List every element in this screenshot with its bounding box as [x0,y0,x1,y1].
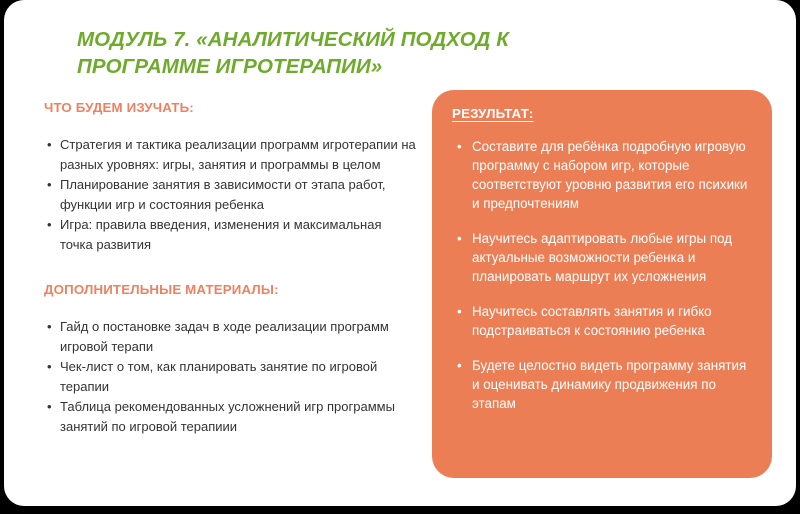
list-item: Чек-лист о том, как планировать занятие … [44,357,416,396]
left-content-column: ЧТО БУДЕМ ИЗУЧАТЬ: Стратегия и тактика р… [44,100,416,437]
list-item: Планирование занятия в зависимости от эт… [44,175,416,214]
list-item: Стратегия и тактика реализации программ … [44,135,416,174]
study-section: ЧТО БУДЕМ ИЗУЧАТЬ: Стратегия и тактика р… [44,100,416,254]
materials-section-heading: ДОПОЛНИТЕЛЬНЫЕ МАТЕРИАЛЫ: [44,282,416,297]
study-section-heading: ЧТО БУДЕМ ИЗУЧАТЬ: [44,100,416,115]
list-item: Таблица рекомендованных усложнений игр п… [44,397,416,436]
result-bullet-list: Составите для ребёнка подробную игровую … [452,137,752,413]
result-panel: РЕЗУЛЬТАТ: Составите для ребёнка подробн… [432,90,772,478]
list-item: Научитесь адаптировать любые игры под ак… [452,229,752,286]
list-item: Гайд о постановке задач в ходе реализаци… [44,317,416,356]
study-bullet-list: Стратегия и тактика реализации программ … [44,135,416,254]
list-item: Составите для ребёнка подробную игровую … [452,137,752,213]
slide-card: МОДУЛЬ 7. «АНАЛИТИЧЕСКИЙ ПОДХОД К ПРОГРА… [4,0,796,506]
list-item: Будете целостно видеть программу занятия… [452,356,752,413]
page-title: МОДУЛЬ 7. «АНАЛИТИЧЕСКИЙ ПОДХОД К ПРОГРА… [77,26,637,80]
materials-section: ДОПОЛНИТЕЛЬНЫЕ МАТЕРИАЛЫ: Гайд о постано… [44,282,416,436]
list-item: Игра: правила введения, изменения и макс… [44,215,416,254]
list-item: Научитесь составлять занятия и гибко под… [452,302,752,340]
materials-bullet-list: Гайд о постановке задач в ходе реализаци… [44,317,416,436]
result-panel-heading: РЕЗУЛЬТАТ: [452,106,752,121]
